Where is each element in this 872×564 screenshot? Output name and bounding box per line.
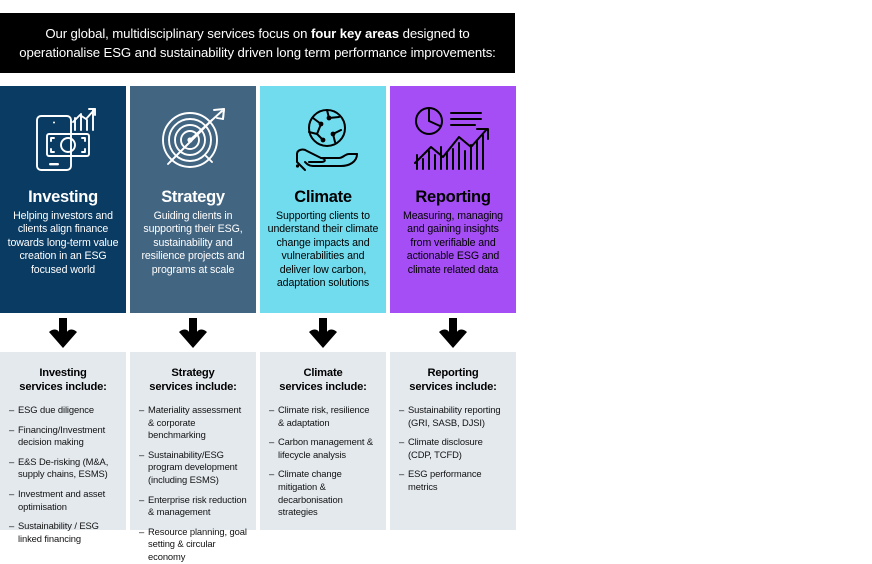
- pillar-card-investing[interactable]: Investing Helping investors and clients …: [0, 86, 126, 313]
- list-item: Investment and asset optimisation: [9, 488, 117, 513]
- headline-part-1: Our global, multidisciplinary services f…: [45, 26, 311, 41]
- pillar-description: Supporting clients to understand their c…: [260, 210, 386, 290]
- hand-globe-icon: [283, 94, 363, 186]
- pillar-description: Measuring, managing and gaining insights…: [390, 210, 516, 277]
- pillar-title: Reporting: [415, 188, 490, 207]
- header-headline: Our global, multidisciplinary services f…: [19, 24, 496, 62]
- mobile-money-chart-icon: [23, 94, 103, 186]
- pie-bar-chart-icon: [411, 94, 495, 186]
- list-item: Climate disclosure (CDP, TCFD): [399, 436, 507, 461]
- arrow-down-icon: [130, 316, 256, 350]
- list-item: Enterprise risk reduction & management: [139, 494, 247, 519]
- arrow-row: [0, 316, 516, 350]
- arrow-down-icon: [260, 316, 386, 350]
- services-list: Climate risk, resilience & adaptation Ca…: [269, 404, 377, 519]
- pillar-title: Strategy: [161, 188, 225, 207]
- services-title: Climate services include:: [269, 366, 377, 394]
- headline-bold-phrase: four key areas: [311, 26, 399, 41]
- services-title: Reporting services include:: [399, 366, 507, 394]
- services-list: Materiality assessment & corporate bench…: [139, 404, 247, 564]
- arrow-down-icon: [0, 316, 126, 350]
- services-list: ESG due diligence Financing/Investment d…: [9, 404, 117, 545]
- pillar-card-row: Investing Helping investors and clients …: [0, 86, 516, 313]
- list-item: Sustainability/ESG program development (…: [139, 449, 247, 487]
- header-banner: Our global, multidisciplinary services f…: [0, 13, 515, 73]
- pillar-title: Climate: [294, 188, 352, 207]
- pillar-description: Helping investors and clients align fina…: [0, 210, 126, 277]
- list-item: Climate change mitigation & decarbonisat…: [269, 468, 377, 518]
- services-box-reporting: Reporting services include: Sustainabili…: [390, 352, 516, 530]
- services-box-investing: Investing services include: ESG due dili…: [0, 352, 126, 530]
- pillar-title: Investing: [28, 188, 98, 207]
- services-list: Sustainability reporting (GRI, SASB, DJS…: [399, 404, 507, 494]
- pillar-card-reporting[interactable]: Reporting Measuring, managing and gainin…: [390, 86, 516, 313]
- services-row: Investing services include: ESG due dili…: [0, 352, 516, 530]
- headline-part-2: designed to: [399, 26, 470, 41]
- pillar-card-strategy[interactable]: Strategy Guiding clients in supporting t…: [130, 86, 256, 313]
- list-item: Materiality assessment & corporate bench…: [139, 404, 247, 442]
- list-item: Financing/Investment decision making: [9, 424, 117, 449]
- list-item: Sustainability reporting (GRI, SASB, DJS…: [399, 404, 507, 429]
- list-item: E&S De-risking (M&A, supply chains, ESMS…: [9, 456, 117, 481]
- pillar-description: Guiding clients in supporting their ESG,…: [130, 210, 256, 277]
- list-item: Carbon management & lifecycle analysis: [269, 436, 377, 461]
- services-title: Strategy services include:: [139, 366, 247, 394]
- list-item: ESG due diligence: [9, 404, 117, 417]
- headline-line-2: operationalise ESG and sustainability dr…: [19, 45, 496, 60]
- arrow-down-icon: [390, 316, 516, 350]
- list-item: Climate risk, resilience & adaptation: [269, 404, 377, 429]
- services-title: Investing services include:: [9, 366, 117, 394]
- pillar-card-climate[interactable]: Climate Supporting clients to understand…: [260, 86, 386, 313]
- list-item: ESG performance metrics: [399, 468, 507, 493]
- list-item: Sustainability / ESG linked financing: [9, 520, 117, 545]
- services-box-climate: Climate services include: Climate risk, …: [260, 352, 386, 530]
- target-arrow-icon: [154, 94, 232, 186]
- services-box-strategy: Strategy services include: Materiality a…: [130, 352, 256, 530]
